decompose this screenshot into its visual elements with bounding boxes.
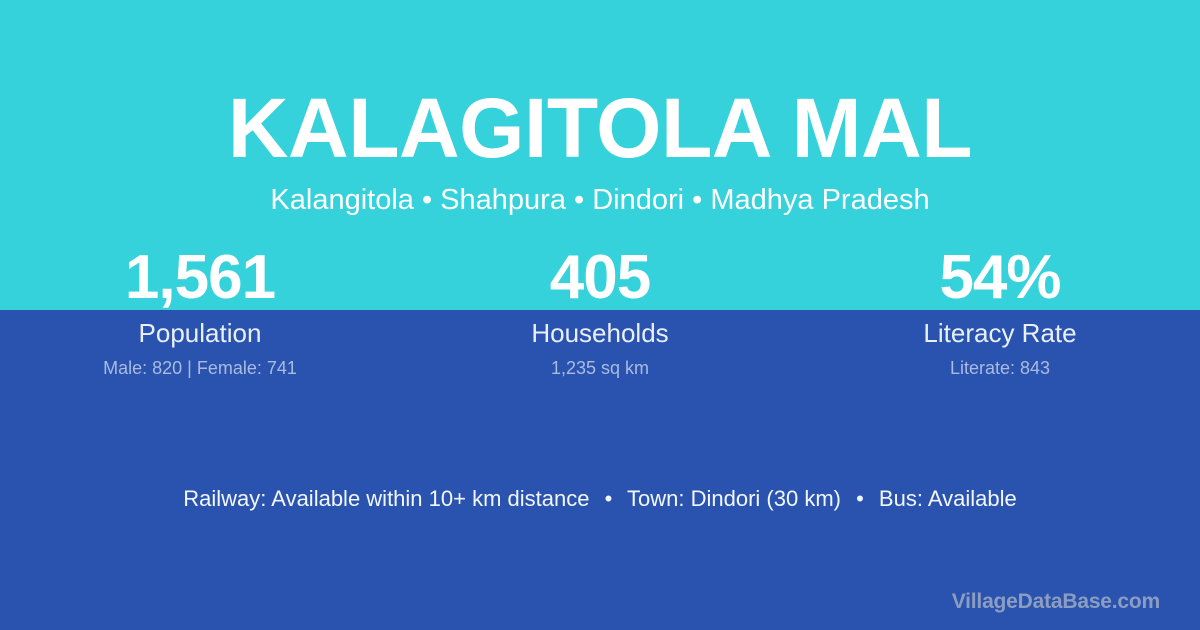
village-info-card: KALAGITOLA MAL Kalangitola • Shahpura • …	[0, 0, 1200, 630]
stat-population: 1,561 Population Male: 820 | Female: 741	[0, 246, 400, 379]
amenity-railway: Railway: Available within 10+ km distanc…	[183, 486, 589, 511]
stat-label-population: Population	[0, 318, 400, 348]
amenity-separator-dot: •	[596, 484, 622, 514]
page-title: KALAGITOLA MAL	[0, 78, 1200, 178]
site-watermark: VillageDataBase.com	[952, 589, 1160, 615]
stat-label-households: Households	[400, 318, 800, 348]
stat-sub-households: 1,235 sq km	[400, 357, 800, 379]
amenity-bus: Bus: Available	[879, 486, 1017, 511]
stat-value-literacy-rate: 54%	[800, 246, 1200, 310]
amenity-town: Town: Dindori (30 km)	[627, 486, 841, 511]
breadcrumb: Kalangitola • Shahpura • Dindori • Madhy…	[0, 182, 1200, 218]
amenities-line: Railway: Available within 10+ km distanc…	[0, 484, 1200, 514]
stat-sub-literacy-rate: Literate: 843	[800, 357, 1200, 379]
stat-value-population: 1,561	[0, 246, 400, 310]
stat-sub-population: Male: 820 | Female: 741	[0, 357, 400, 379]
stat-literacy-rate: 54% Literacy Rate Literate: 843	[800, 246, 1200, 379]
stats-row: 1,561 Population Male: 820 | Female: 741…	[0, 246, 1200, 379]
amenity-separator-dot: •	[847, 484, 873, 514]
stat-households: 405 Households 1,235 sq km	[400, 246, 800, 379]
stat-value-households: 405	[400, 246, 800, 310]
stat-label-literacy-rate: Literacy Rate	[800, 318, 1200, 348]
